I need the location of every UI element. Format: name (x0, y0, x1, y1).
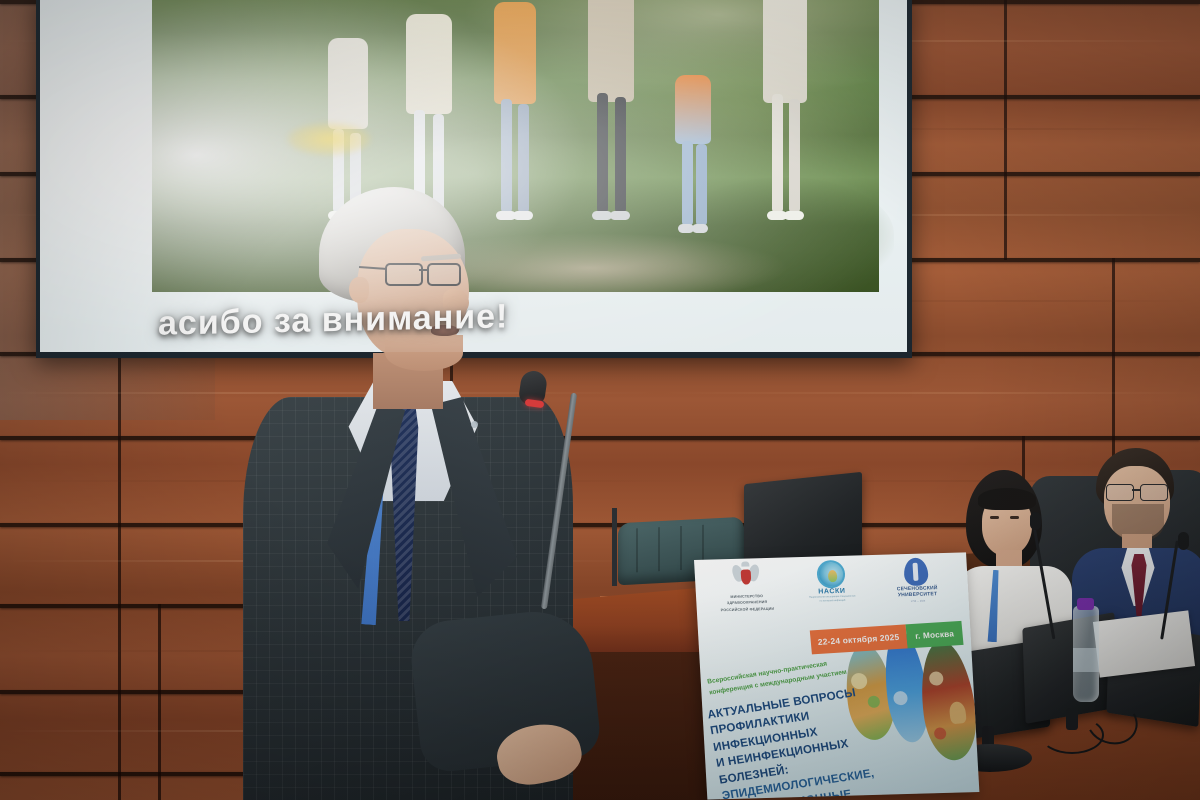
microphone-icon (1178, 532, 1189, 550)
lens-left (1106, 484, 1134, 501)
chin (385, 335, 463, 371)
crown (741, 561, 749, 566)
figure-leg (597, 93, 608, 214)
glasses-bridge (1132, 489, 1141, 491)
hair-bangs (978, 488, 1036, 510)
coat-of-arms-icon (732, 562, 760, 593)
naski-caption-line2: по контролю инфекций (820, 600, 846, 604)
slide-text: асибо за вниманиe! (158, 297, 508, 343)
chair-pleat (658, 527, 660, 571)
lapel-pin (471, 421, 478, 428)
chair-pleat (636, 528, 638, 572)
chair-post (612, 508, 617, 586)
speaker-at-podium (235, 185, 595, 800)
papers-stack (1093, 610, 1195, 677)
eyeglasses-icon (1106, 484, 1170, 500)
figure-leg (682, 141, 693, 226)
ear (349, 277, 369, 303)
figure-shoe (610, 211, 630, 220)
naski-emblem-icon (816, 560, 846, 589)
shield (740, 569, 751, 584)
projection-screen: асибо за вниманиe! (40, 0, 907, 352)
figure-leg (696, 144, 707, 226)
grass-tuft (675, 177, 893, 292)
lens-right (427, 263, 461, 286)
bottle-label (1073, 648, 1099, 672)
logo-caption-line3: РОССИЙСКОЙ ФЕДЕРАЦИИ (721, 607, 775, 613)
wall-seam-vertical (158, 604, 161, 800)
banner-title: АКТУАЛЬНЫЕ ВОПРОСЫ ПРОФИЛАКТИКИ ИНФЕКЦИО… (706, 679, 917, 799)
grass-tuft (603, 20, 879, 183)
sechenov-caption: 1758 — 2025 (911, 599, 926, 602)
droplet-detail (933, 727, 946, 740)
figure-torso (763, 0, 807, 103)
figure-shoe (784, 211, 804, 220)
sechenov-emblem-icon (904, 557, 930, 586)
conference-banner: МИНИСТЕРСТВО ЗДРАВООХРАНЕНИЯ РОССИЙСКОЙ … (694, 552, 979, 799)
eye (1010, 516, 1019, 519)
chair-pleat (680, 526, 682, 570)
eyeglasses-icon (385, 263, 467, 283)
logo-ministry-of-health: МИНИСТЕРСТВО ЗДРАВООХРАНЕНИЯ РОССИЙСКОЙ … (708, 562, 785, 613)
sechenov-wordmark-line2: УНИВЕРСИТЕТ (898, 591, 938, 598)
figure-shoe (592, 211, 612, 220)
city-badge: г. Москва (905, 621, 964, 648)
wall-seam (0, 436, 1200, 440)
bottle-cap (1077, 598, 1094, 610)
wood-grain (0, 392, 1200, 394)
droplet-graphic (915, 638, 980, 762)
lens-right (1140, 484, 1168, 501)
figure-shoe (692, 224, 708, 233)
figure-torso (328, 38, 368, 129)
figure-torso (406, 14, 452, 114)
lens-left (385, 263, 423, 286)
projection-screen-frame: асибо за вниманиe! (36, 0, 912, 358)
figure-torso (494, 2, 536, 103)
figure-torso (675, 75, 711, 144)
wall-seam-vertical (1004, 0, 1007, 260)
conference-photo-scene: асибо за вниманиe! (0, 0, 1200, 800)
logo-caption-line1: МИНИСТЕРСТВО (730, 594, 763, 599)
banner-logo-row: МИНИСТЕРСТВО ЗДРАВООХРАНЕНИЯ РОССИЙСКОЙ … (694, 556, 970, 629)
microphone-icon (1030, 512, 1041, 530)
droplet-detail (928, 671, 944, 686)
logo-caption-line2: ЗДРАВООХРАНЕНИЯ (727, 600, 768, 606)
droplet-detail (948, 701, 967, 724)
figure-leg (789, 99, 800, 214)
logo-sechenov-university: СЕЧЕНОВСКИЙ УНИВЕРСИТЕТ 1758 — 2025 (879, 557, 955, 603)
lens-flare (286, 122, 372, 156)
eye (990, 516, 999, 519)
figure-torso (588, 0, 634, 102)
figure-leg (772, 94, 783, 213)
figure-leg (615, 97, 626, 213)
logo-naski: НАСКИ Национальная ассоциация специалист… (793, 559, 869, 604)
